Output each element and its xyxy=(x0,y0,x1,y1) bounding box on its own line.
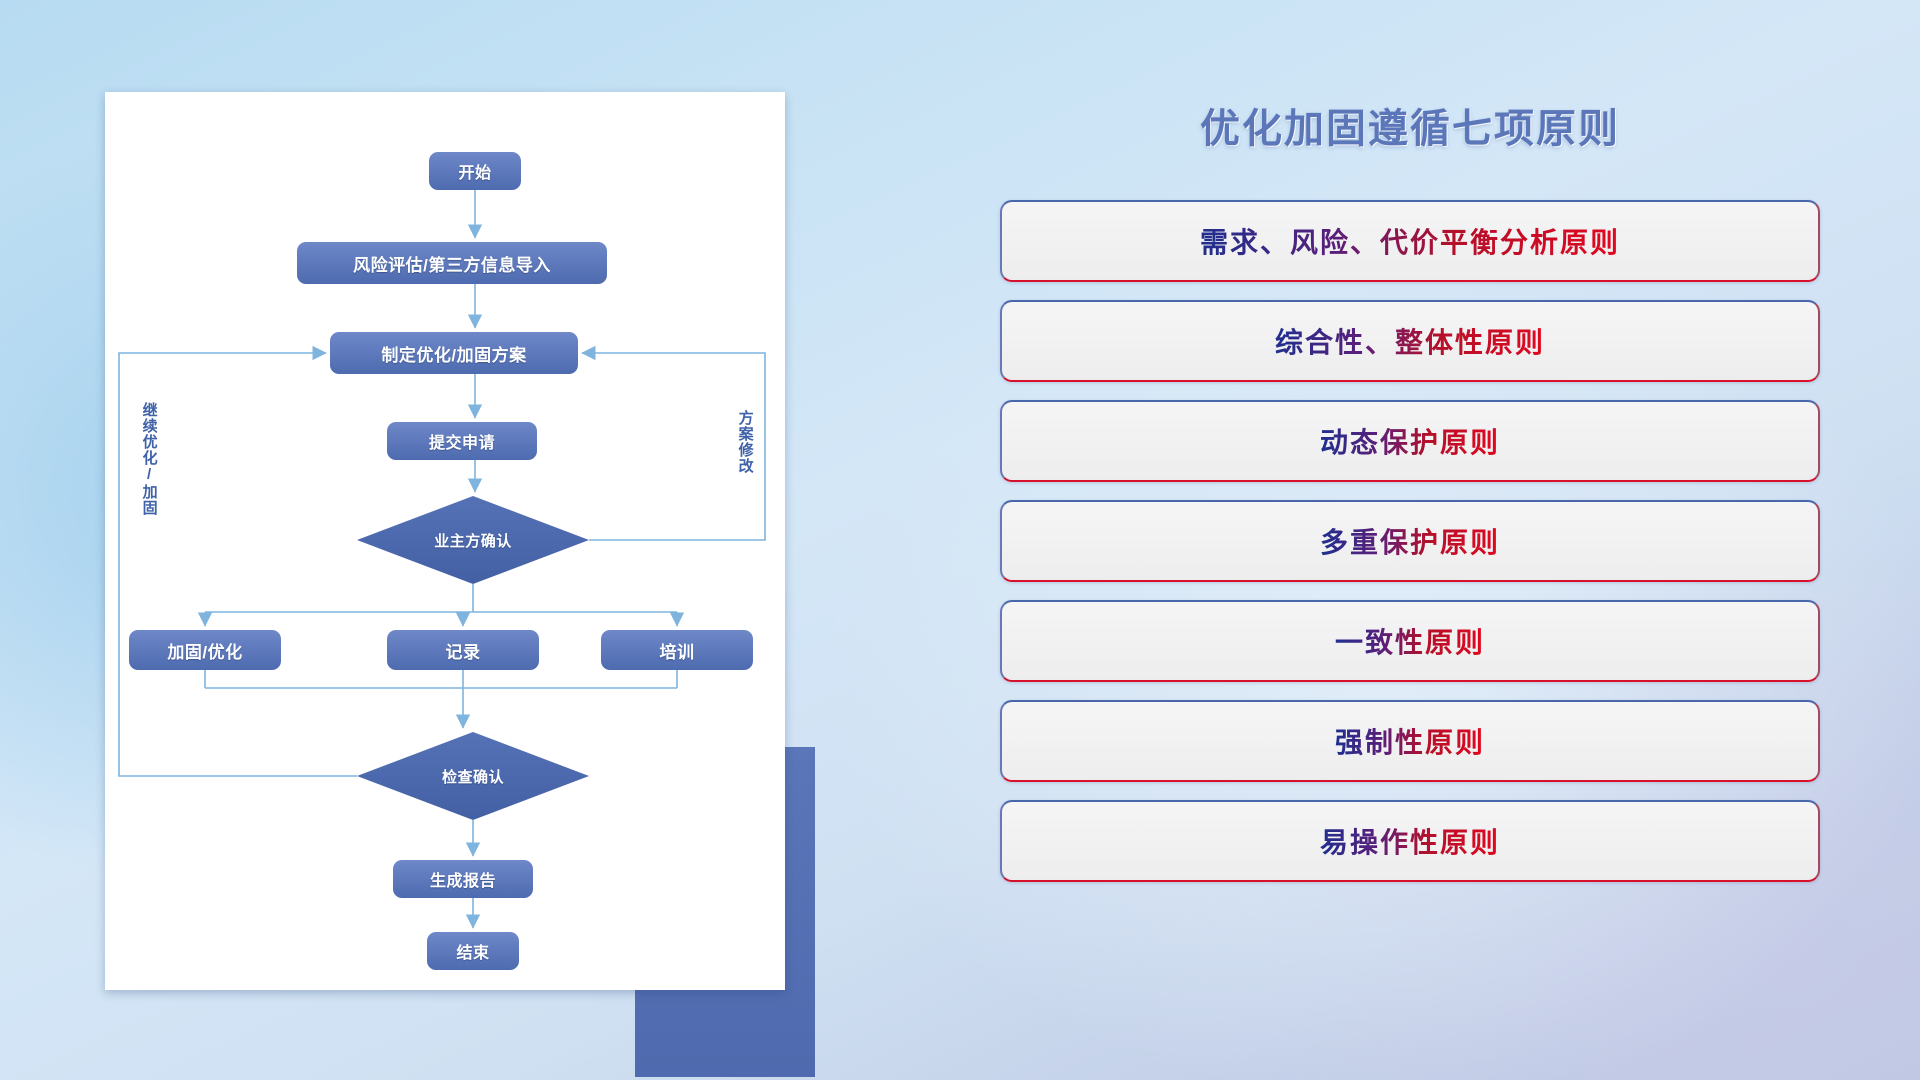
principle-card-6[interactable]: 强制性原则 xyxy=(1000,700,1820,782)
principle-label: 强制性原则 xyxy=(1335,721,1485,761)
flowchart-panel: 开始 风险评估/第三方信息导入 制定优化/加固方案 提交申请 业主方确认 加固/… xyxy=(105,92,795,992)
principle-label: 易操作性原则 xyxy=(1320,821,1500,861)
principle-card-4[interactable]: 多重保护原则 xyxy=(1000,500,1820,582)
principles-panel: 优化加固遵循七项原则 需求、风险、代价平衡分析原则 综合性、整体性原则 动态保护… xyxy=(1000,96,1820,1016)
principle-card-2[interactable]: 综合性、整体性原则 xyxy=(1000,300,1820,382)
principles-list: 需求、风险、代价平衡分析原则 综合性、整体性原则 动态保护原则 多重保护原则 一… xyxy=(1000,200,1820,882)
principle-label: 多重保护原则 xyxy=(1320,521,1500,561)
principles-title: 优化加固遵循七项原则 xyxy=(1000,96,1820,154)
edge-label-plan-revise: 方案修改 xyxy=(737,410,753,474)
principle-card-5[interactable]: 一致性原则 xyxy=(1000,600,1820,682)
edge-label-continue-optimize: 继续优化/加固 xyxy=(141,402,157,516)
flowchart-connectors xyxy=(105,92,785,990)
principle-label: 需求、风险、代价平衡分析原则 xyxy=(1200,221,1620,261)
principle-label: 动态保护原则 xyxy=(1320,421,1500,461)
principle-card-7[interactable]: 易操作性原则 xyxy=(1000,800,1820,882)
principle-label: 综合性、整体性原则 xyxy=(1275,321,1545,361)
principle-card-1[interactable]: 需求、风险、代价平衡分析原则 xyxy=(1000,200,1820,282)
principle-card-3[interactable]: 动态保护原则 xyxy=(1000,400,1820,482)
principle-label: 一致性原则 xyxy=(1335,621,1485,661)
flowchart-card: 开始 风险评估/第三方信息导入 制定优化/加固方案 提交申请 业主方确认 加固/… xyxy=(105,92,785,990)
